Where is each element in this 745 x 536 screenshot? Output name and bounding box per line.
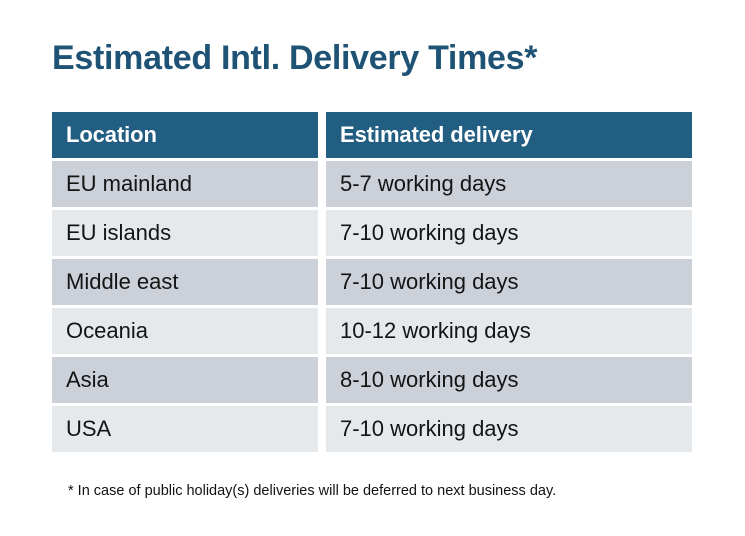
- table-row: EU islands 7-10 working days: [52, 210, 692, 256]
- column-header-location: Location: [52, 112, 318, 158]
- column-divider: [318, 210, 326, 256]
- table-row: USA 7-10 working days: [52, 406, 692, 452]
- cell-location: USA: [52, 406, 318, 452]
- column-divider: [318, 161, 326, 207]
- cell-location: EU islands: [52, 210, 318, 256]
- column-divider: [318, 308, 326, 354]
- column-divider: [318, 112, 326, 158]
- table-row: Oceania 10-12 working days: [52, 308, 692, 354]
- cell-location: EU mainland: [52, 161, 318, 207]
- cell-delivery: 7-10 working days: [326, 210, 692, 256]
- table-header-row: Location Estimated delivery: [52, 112, 692, 158]
- cell-delivery: 8-10 working days: [326, 357, 692, 403]
- column-header-delivery: Estimated delivery: [326, 112, 692, 158]
- delivery-times-panel: Estimated Intl. Delivery Times* Location…: [0, 0, 745, 536]
- cell-location: Middle east: [52, 259, 318, 305]
- cell-delivery: 7-10 working days: [326, 406, 692, 452]
- column-divider: [318, 357, 326, 403]
- cell-delivery: 7-10 working days: [326, 259, 692, 305]
- footnote-text: * In case of public holiday(s) deliverie…: [68, 481, 556, 501]
- column-divider: [318, 259, 326, 305]
- cell-delivery: 5-7 working days: [326, 161, 692, 207]
- page-title: Estimated Intl. Delivery Times*: [52, 36, 537, 80]
- table-row: Middle east 7-10 working days: [52, 259, 692, 305]
- delivery-times-table: Location Estimated delivery EU mainland …: [52, 112, 692, 452]
- cell-delivery: 10-12 working days: [326, 308, 692, 354]
- cell-location: Oceania: [52, 308, 318, 354]
- table-row: EU mainland 5-7 working days: [52, 161, 692, 207]
- table-row: Asia 8-10 working days: [52, 357, 692, 403]
- cell-location: Asia: [52, 357, 318, 403]
- column-divider: [318, 406, 326, 452]
